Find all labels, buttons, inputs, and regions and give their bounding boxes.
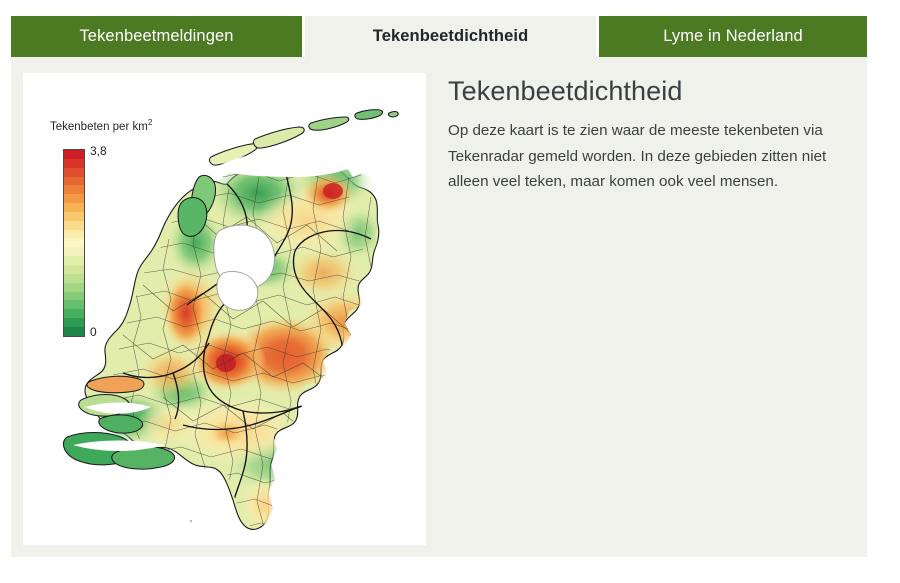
legend-band-19: [64, 318, 84, 327]
page-description: Op deze kaart is te zien waar de meeste …: [448, 118, 840, 195]
legend-band-17: [64, 300, 84, 309]
island-ameland[interactable]: [309, 117, 349, 130]
legend-max-label: 3,8: [90, 144, 107, 158]
legend-band-15: [64, 283, 84, 292]
legend-band-8: [64, 221, 84, 230]
map-card: Tekenbeten per km2 3,8 0: [23, 73, 426, 545]
tab-lyme-in-nederland[interactable]: Lyme in Nederland: [599, 16, 867, 57]
tab-tekenbeetdichtheid[interactable]: Tekenbeetdichtheid: [305, 16, 596, 57]
legend-band-5: [64, 194, 84, 203]
legend-band-3: [64, 177, 84, 186]
legend-band-20: [64, 327, 84, 336]
legend-title-superscript: 2: [148, 118, 152, 127]
legend-color-bar: [63, 149, 85, 337]
page-root: Tekenbeetmeldingen Tekenbeetdichtheid Ly…: [0, 0, 900, 583]
legend-title: Tekenbeten per km2: [50, 118, 152, 133]
hotspot-drenthe-core: [323, 183, 343, 199]
hotspot-utrecht-core: [216, 354, 236, 372]
text-column: Tekenbeetdichtheid Op deze kaart is te z…: [448, 74, 848, 195]
legend-band-9: [64, 230, 84, 239]
tab-bar: Tekenbeetmeldingen Tekenbeetdichtheid Ly…: [11, 16, 867, 57]
hotspot-kennemerland-red: [164, 277, 208, 349]
legend-band-6: [64, 203, 84, 212]
tab-tekenbeetmeldingen[interactable]: Tekenbeetmeldingen: [11, 16, 302, 57]
hotspot-brabantmid-orange: [207, 419, 247, 447]
legend-band-0: [64, 150, 84, 159]
legend-band-4: [64, 185, 84, 194]
legend-band-11: [64, 247, 84, 256]
legend-band-14: [64, 274, 84, 283]
legend-min-label: 0: [90, 325, 97, 339]
scale-marker: [190, 520, 192, 522]
legend-band-16: [64, 292, 84, 301]
legend-band-13: [64, 265, 84, 274]
legend-band-1: [64, 159, 84, 168]
legend-band-18: [64, 309, 84, 318]
island-terschelling[interactable]: [253, 127, 304, 148]
legend-band-10: [64, 238, 84, 247]
island-schiermonnikoog[interactable]: [355, 110, 383, 120]
legend-band-7: [64, 212, 84, 221]
hotspot-overijssel-orange: [285, 247, 361, 299]
legend-band-12: [64, 256, 84, 265]
legend-title-text: Tekenbeten per km: [50, 121, 148, 133]
island-rottumeroog[interactable]: [388, 112, 398, 118]
legend-band-2: [64, 168, 84, 177]
page-title: Tekenbeetdichtheid: [448, 74, 848, 108]
island-noordbeveland[interactable]: [99, 415, 143, 433]
